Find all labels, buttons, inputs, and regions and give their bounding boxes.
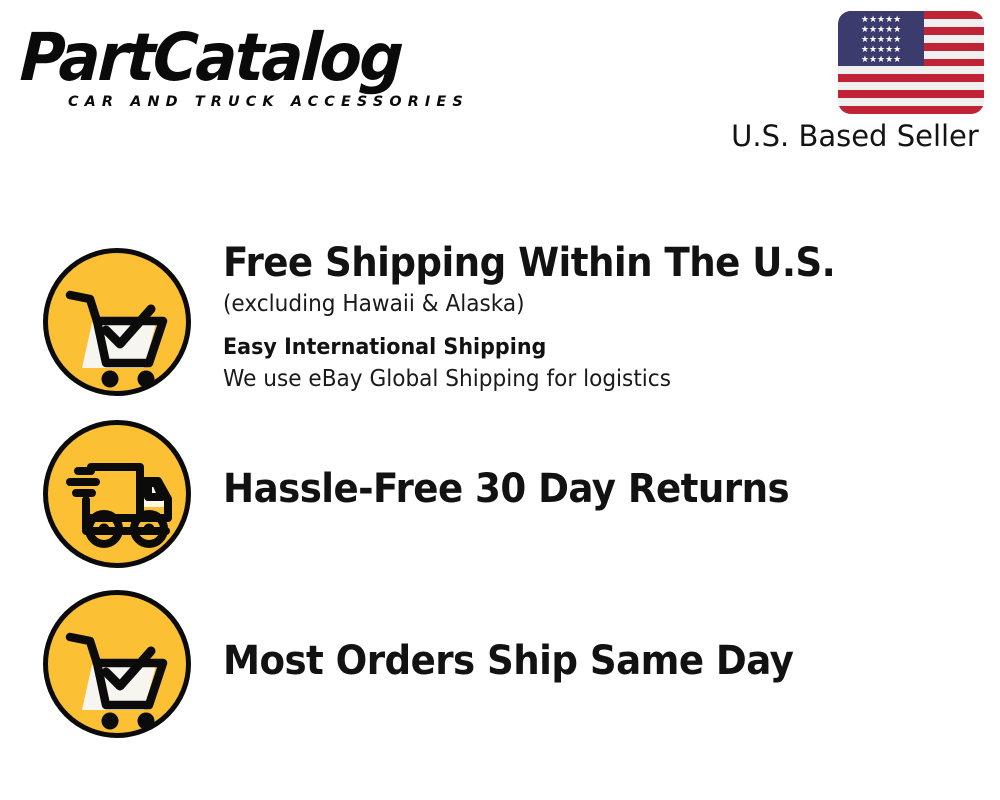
feature-headline: Free Shipping Within The U.S. (223, 240, 902, 286)
feature-subline: (excluding Hawaii & Alaska) (223, 289, 909, 319)
feature-text: Most Orders Ship Same Day (223, 590, 953, 684)
feature-subhead: Easy International Shipping (223, 333, 909, 363)
feature-headline: Most Orders Ship Same Day (223, 638, 902, 684)
feature-text: Free Shipping Within The U.S. (excluding… (223, 248, 953, 394)
feature-subline-secondary: We use eBay Global Shipping for logistic… (223, 364, 909, 394)
shopping-cart-check-icon (43, 248, 191, 396)
delivery-truck-icon (43, 420, 191, 568)
feature-text: Hassle-Free 30 Day Returns (223, 420, 953, 512)
shopping-cart-check-icon (43, 590, 191, 738)
feature-list: Free Shipping Within The U.S. (excluding… (0, 0, 1000, 800)
feature-headline: Hassle-Free 30 Day Returns (223, 466, 902, 512)
promo-banner: PartCatalog CAR AND TRUCK ACCESSORIES ★★… (0, 0, 1000, 800)
